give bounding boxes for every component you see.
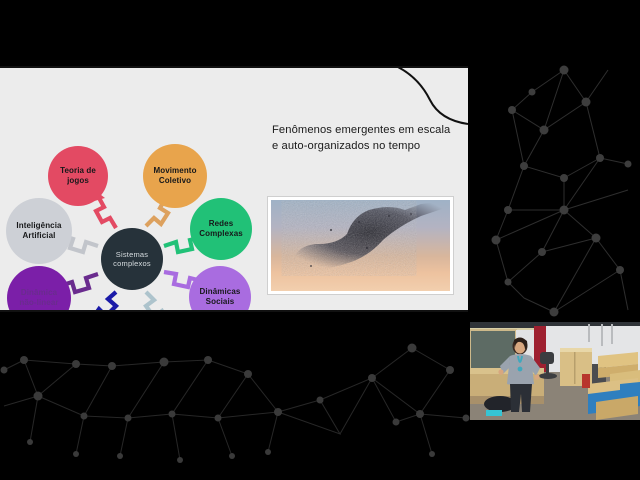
node-label-line2: Artificial: [22, 231, 55, 241]
footer-network-graphic: [0, 314, 470, 480]
node-label-line2: Complexas: [199, 229, 243, 239]
diagram-node-movimento-coletivo: Movimento Coletivo: [143, 144, 207, 208]
node-label-line2: Sociais: [206, 297, 235, 307]
node-label-line1: Dinâmicas: [200, 287, 241, 297]
murmuration-photo: [271, 200, 450, 291]
network-graphic-panel: [468, 60, 640, 322]
diagram-node-redes-complexas: Redes Complexas: [190, 198, 252, 260]
lecture-hall-scene: [470, 322, 640, 420]
presentation-slide: Sistemas complexos Teoria de jogos Movim…: [0, 66, 468, 312]
diagram-node-teoria-de-jogos: Teoria de jogos: [48, 146, 108, 206]
presenter-video-feed[interactable]: [470, 322, 640, 420]
network-graphic: [468, 60, 640, 322]
murmuration-photo-frame: [268, 197, 453, 294]
node-label-line2: jogos: [67, 176, 89, 186]
node-label-line1: Teoria de: [60, 166, 96, 176]
node-label-line1: Movimento: [153, 166, 196, 176]
node-label-line2: não-linear: [19, 298, 58, 308]
footer-branding-bar: ICTP SAIFR International Centre for Theo…: [0, 314, 470, 480]
starling-flock-shape: [271, 200, 450, 291]
center-label-line2: complexos: [113, 259, 151, 268]
diagram-node-inteligencia-artificial: Inteligência Artificial: [6, 198, 72, 264]
center-label-line1: Sistemas: [116, 250, 148, 259]
slide-decorative-curve: [368, 66, 468, 128]
node-label-line1: Inteligência: [16, 221, 61, 231]
stream-canvas: Sistemas complexos Teoria de jogos Movim…: [0, 0, 640, 480]
complex-systems-diagram: Sistemas complexos Teoria de jogos Movim…: [0, 68, 258, 312]
node-label-line2: Coletivo: [159, 176, 191, 186]
diagram-center-node: Sistemas complexos: [101, 228, 163, 290]
node-label-line1: Redes: [209, 219, 234, 229]
slide-body-text: Fenômenos emergentes em escala e auto-or…: [272, 122, 458, 154]
node-label-line1: Dinâmica: [21, 288, 57, 298]
